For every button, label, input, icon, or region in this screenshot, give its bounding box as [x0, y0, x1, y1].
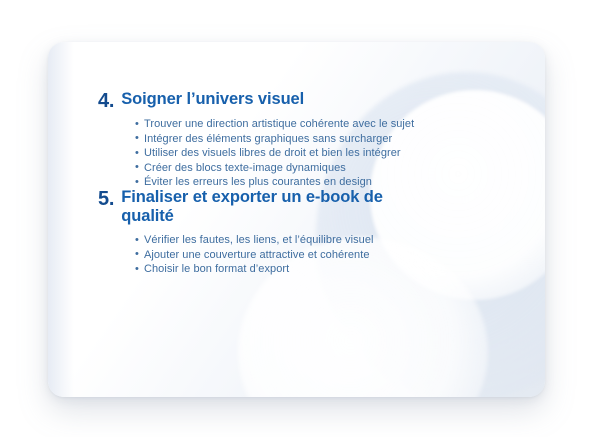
- list-item: Vérifier les fautes, les liens, et l’équ…: [135, 233, 421, 248]
- slide-content: 4. Soigner l’univers visuel Trouver une …: [48, 42, 545, 397]
- slide-card: 4. Soigner l’univers visuel Trouver une …: [48, 42, 545, 397]
- section-4-heading: 4. Soigner l’univers visuel: [98, 90, 414, 112]
- section-5-heading: 5. Finaliser et exporter un e-book de qu…: [98, 188, 421, 226]
- section-4-title: Soigner l’univers visuel: [121, 90, 304, 109]
- section-5: 5. Finaliser et exporter un e-book de qu…: [98, 188, 421, 277]
- slide-canvas: 4. Soigner l’univers visuel Trouver une …: [0, 0, 600, 437]
- list-item: Créer des blocs texte-image dynamiques: [135, 161, 414, 176]
- section-4: 4. Soigner l’univers visuel Trouver une …: [98, 90, 414, 190]
- list-item: Intégrer des éléments graphiques sans su…: [135, 132, 414, 147]
- section-5-title: Finaliser et exporter un e-book de quali…: [121, 188, 421, 226]
- list-item: Trouver une direction artistique cohéren…: [135, 117, 414, 132]
- section-4-bullet-list: Trouver une direction artistique cohéren…: [98, 117, 414, 190]
- section-5-number: 5.: [98, 188, 121, 210]
- list-item: Choisir le bon format d’export: [135, 262, 421, 277]
- list-item: Utiliser des visuels libres de droit et …: [135, 146, 414, 161]
- section-5-bullet-list: Vérifier les fautes, les liens, et l’équ…: [98, 233, 421, 277]
- list-item: Ajouter une couverture attractive et coh…: [135, 248, 421, 263]
- section-4-number: 4.: [98, 90, 121, 112]
